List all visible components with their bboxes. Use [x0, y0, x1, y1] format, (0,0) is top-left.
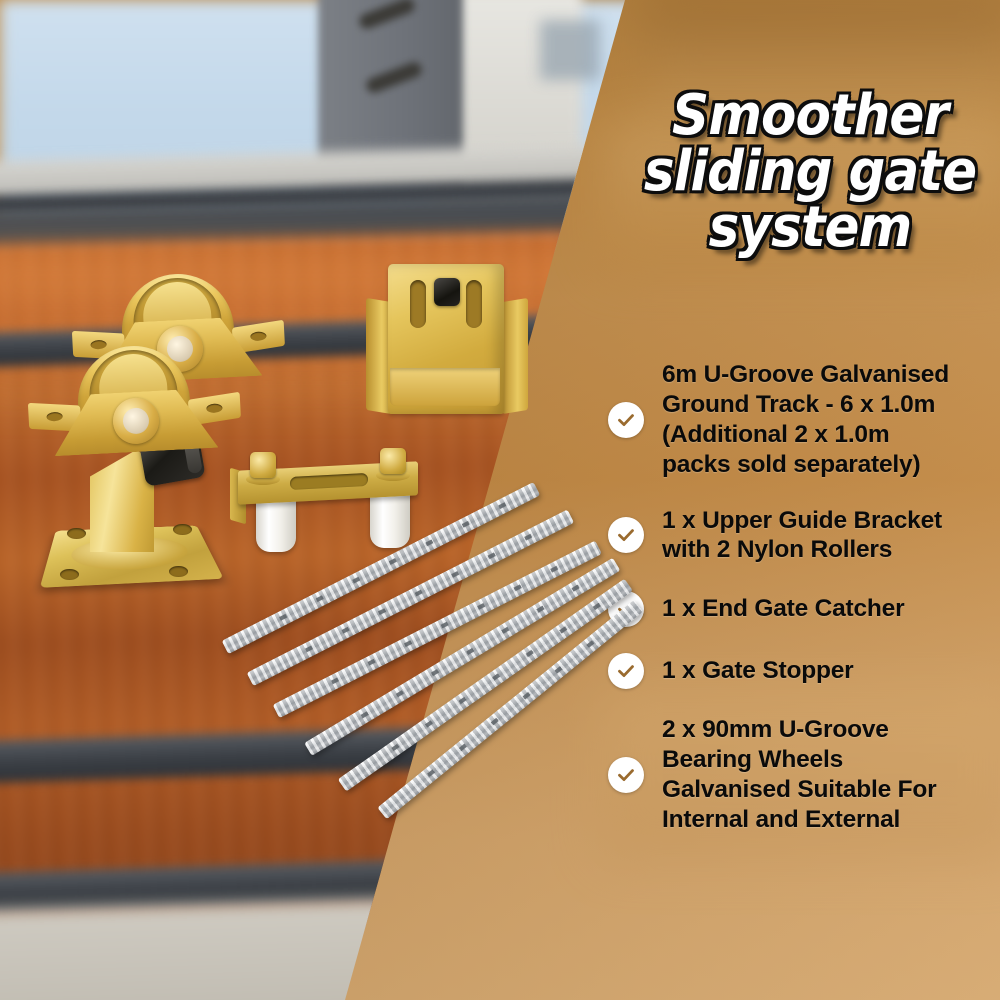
end-gate-catcher: [362, 258, 532, 428]
catcher-lip: [390, 368, 500, 406]
nylon-roller: [370, 490, 410, 548]
catcher-slot: [466, 280, 482, 328]
product-infographic: Smoother sliding gate system 6m U-Groove…: [0, 0, 1000, 1000]
u-groove-bearing-wheel: [31, 335, 237, 470]
stopper-bolt-hole: [60, 569, 79, 580]
catcher-wing: [502, 298, 528, 414]
stopper-bolt-hole: [67, 528, 86, 539]
upper-guide-bracket: [228, 448, 428, 558]
stopper-bolt-hole: [169, 566, 188, 577]
catcher-slot: [410, 280, 426, 328]
stopper-bolt-hole: [173, 524, 192, 535]
guide-bolt: [380, 448, 406, 474]
catcher-rubber-bumper: [434, 278, 460, 306]
guide-bolt: [250, 452, 276, 478]
hardware-group: [0, 0, 1000, 1000]
